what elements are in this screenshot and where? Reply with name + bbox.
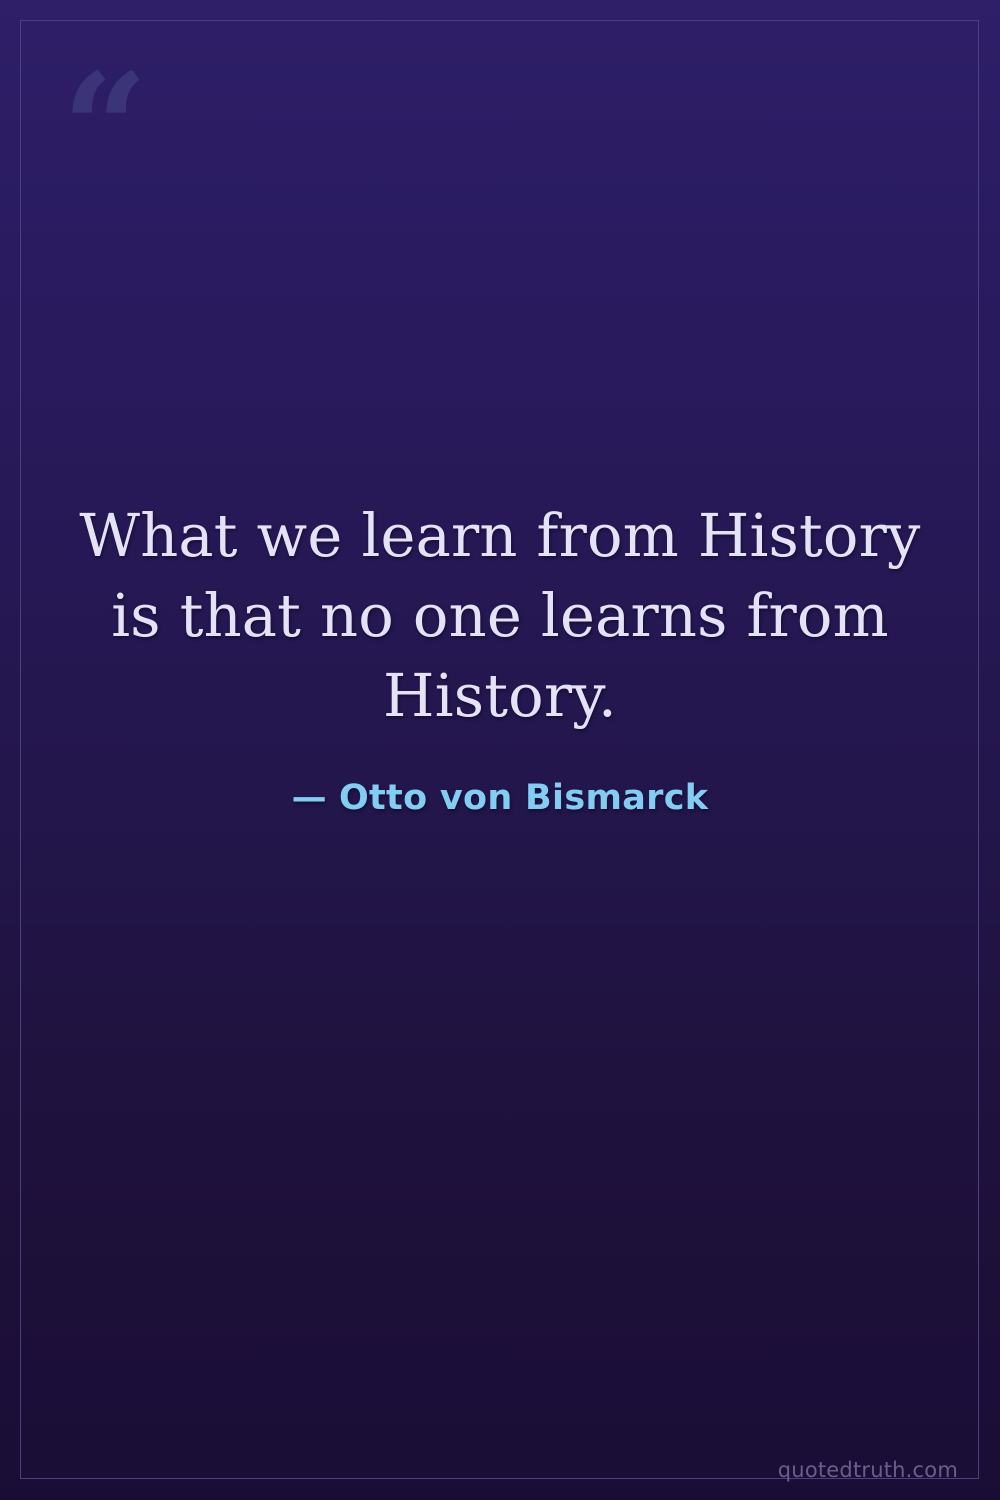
quote-content-block: What we learn from History is that no on… bbox=[0, 496, 1000, 818]
quote-line-3: History. bbox=[70, 656, 930, 736]
attribution-author: Otto von Bismarck bbox=[339, 778, 708, 818]
quote-line-1: What we learn from History bbox=[70, 496, 930, 576]
quote-line-2: is that no one learns from bbox=[70, 576, 930, 656]
attribution-dash: — bbox=[292, 778, 327, 818]
site-watermark: quotedtruth.com bbox=[778, 1458, 958, 1482]
quote-card: “ What we learn from History is that no … bbox=[0, 0, 1000, 1500]
open-quote-icon: “ bbox=[62, 54, 146, 204]
quote-text: What we learn from History is that no on… bbox=[70, 496, 930, 736]
quote-attribution: —Otto von Bismarck bbox=[70, 736, 930, 818]
